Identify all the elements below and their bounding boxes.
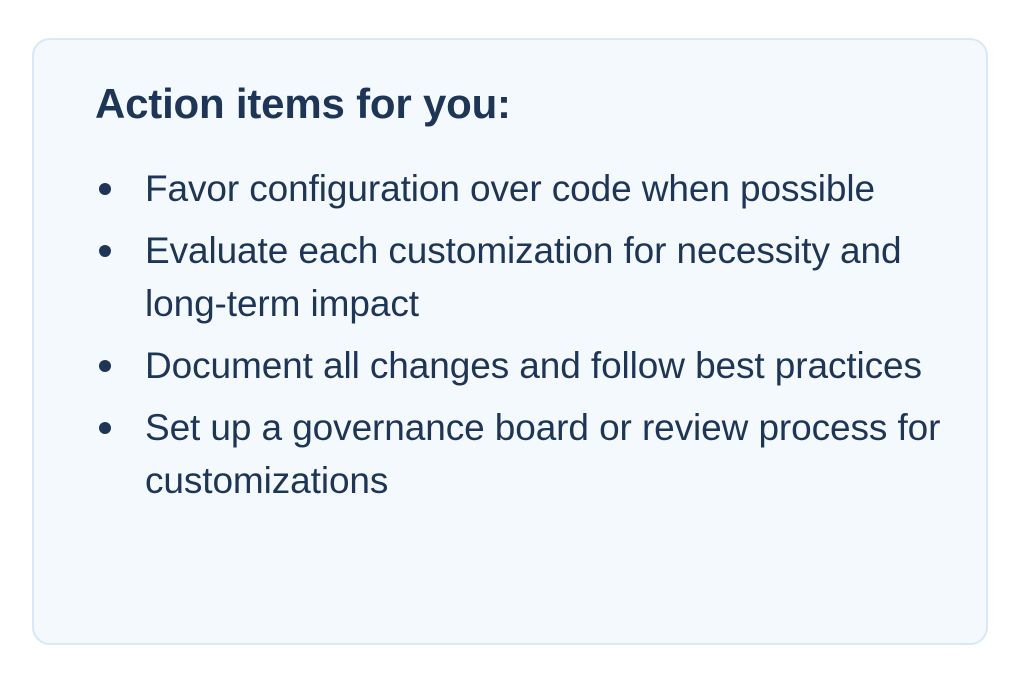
action-items-card: Action items for you: Favor configuratio… xyxy=(32,38,988,645)
bullet-dot-icon xyxy=(99,422,111,434)
list-item-text: Document all changes and follow best pra… xyxy=(145,339,946,392)
list-item: Favor configuration over code when possi… xyxy=(95,162,946,215)
action-items-list: Favor configuration over code when possi… xyxy=(95,162,946,507)
bullet-dot-icon xyxy=(99,360,111,372)
bullet-dot-icon xyxy=(99,245,111,257)
card-title: Action items for you: xyxy=(95,78,946,130)
list-item: Evaluate each customization for necessit… xyxy=(95,224,946,330)
card-content: Action items for you: Favor configuratio… xyxy=(95,78,946,507)
list-item-text: Favor configuration over code when possi… xyxy=(145,162,946,215)
list-item: Document all changes and follow best pra… xyxy=(95,339,946,392)
list-item-text: Evaluate each customization for necessit… xyxy=(145,224,946,330)
bullet-dot-icon xyxy=(99,183,111,195)
list-item-text: Set up a governance board or review proc… xyxy=(145,401,946,507)
list-item: Set up a governance board or review proc… xyxy=(95,401,946,507)
page-root: Action items for you: Favor configuratio… xyxy=(0,0,1024,683)
